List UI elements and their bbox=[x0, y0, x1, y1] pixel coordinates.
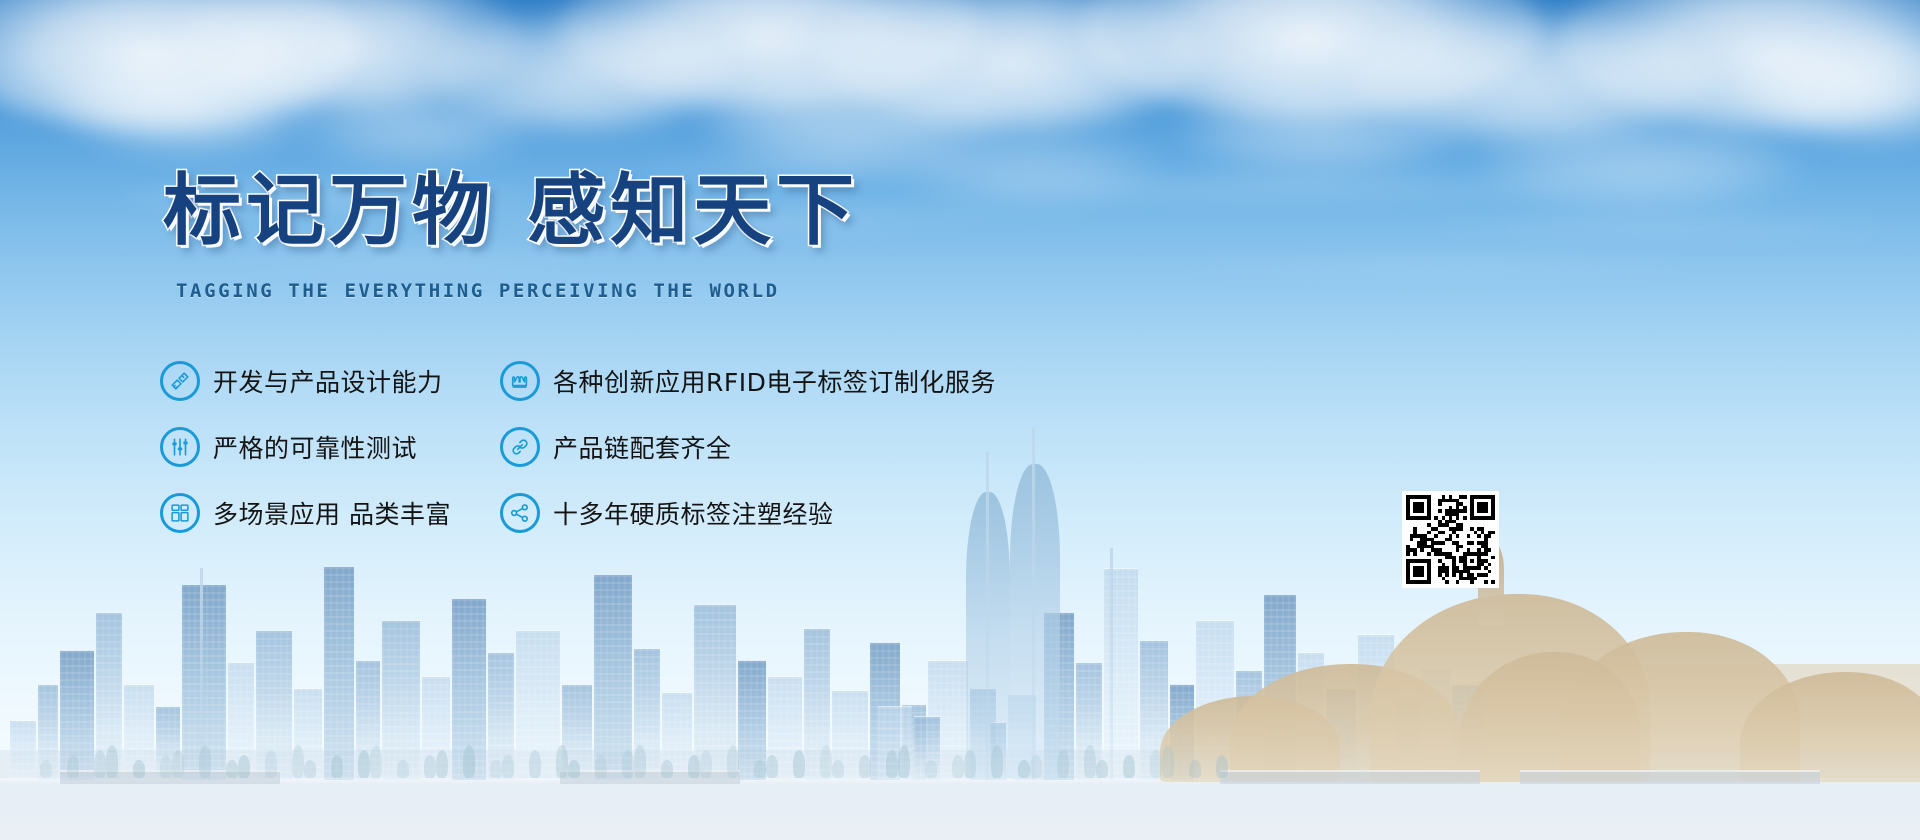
share-network-icon bbox=[500, 493, 540, 533]
ruler-pencil-icon bbox=[160, 361, 200, 401]
banner-content: 标记万物 感知天下 TAGGING THE EVERYTHING PERCEIV… bbox=[0, 0, 1920, 840]
promotional-banner: 标记万物 感知天下 TAGGING THE EVERYTHING PERCEIV… bbox=[0, 0, 1920, 840]
sliders-icon bbox=[160, 427, 200, 467]
crown-icon bbox=[500, 361, 540, 401]
page-subtitle: TAGGING THE EVERYTHING PERCEIVING THE WO… bbox=[176, 280, 780, 302]
feature-row: 多场景应用 品类丰富 十多年硬质标签注塑经验 bbox=[160, 480, 1160, 546]
feature-item-design-capability: 开发与产品设计能力 bbox=[160, 361, 500, 401]
feature-label: 开发与产品设计能力 bbox=[213, 363, 443, 399]
feature-row: 严格的可靠性测试 产品链配套齐全 bbox=[160, 414, 1160, 480]
feature-label: 十多年硬质标签注塑经验 bbox=[553, 495, 834, 531]
feature-list: 开发与产品设计能力 各种创新应用RFID电子标签订制化服务 bbox=[160, 348, 1160, 546]
feature-label: 严格的可靠性测试 bbox=[213, 429, 417, 465]
qr-code[interactable] bbox=[1402, 491, 1499, 588]
feature-row: 开发与产品设计能力 各种创新应用RFID电子标签订制化服务 bbox=[160, 348, 1160, 414]
link-icon bbox=[500, 427, 540, 467]
feature-item-rfid-customization: 各种创新应用RFID电子标签订制化服务 bbox=[500, 361, 1160, 401]
feature-item-multi-scenario: 多场景应用 品类丰富 bbox=[160, 493, 500, 533]
feature-label: 多场景应用 品类丰富 bbox=[213, 495, 451, 531]
feature-label: 各种创新应用RFID电子标签订制化服务 bbox=[553, 363, 996, 399]
feature-item-molding-experience: 十多年硬质标签注塑经验 bbox=[500, 493, 1160, 533]
grid-blocks-icon bbox=[160, 493, 200, 533]
feature-item-product-chain: 产品链配套齐全 bbox=[500, 427, 1160, 467]
feature-item-reliability-testing: 严格的可靠性测试 bbox=[160, 427, 500, 467]
page-title: 标记万物 感知天下 bbox=[163, 148, 859, 260]
qr-code-matrix bbox=[1406, 495, 1495, 584]
feature-label: 产品链配套齐全 bbox=[553, 429, 732, 465]
